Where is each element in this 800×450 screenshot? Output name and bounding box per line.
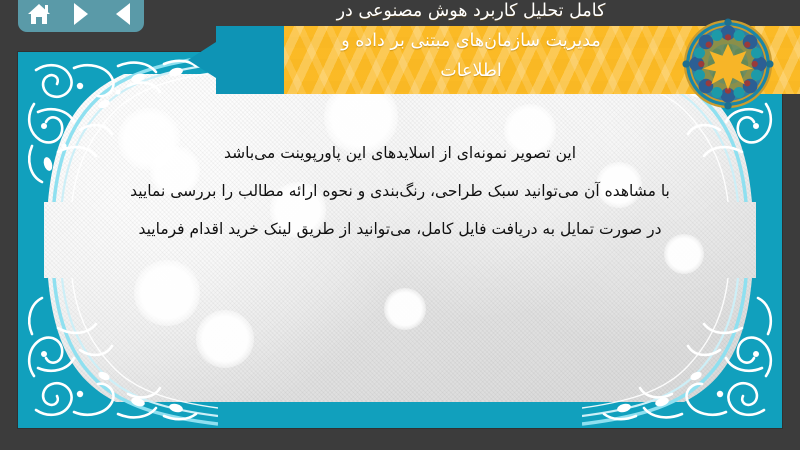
- slide-frame: این تصویر نمونه‌ای از اسلایدهای این پاور…: [18, 52, 782, 428]
- triangle-right-icon: [74, 3, 88, 25]
- bokeh-circle: [384, 288, 426, 330]
- home-button[interactable]: [24, 1, 54, 27]
- triangle-left-icon: [116, 3, 130, 25]
- body-line-3: در صورت تمایل به دریافت فایل کامل، می‌تو…: [58, 210, 742, 248]
- slide-body-text: این تصویر نمونه‌ای از اسلایدهای این پاور…: [58, 134, 742, 248]
- back-button[interactable]: [108, 1, 138, 27]
- forward-button[interactable]: [66, 1, 96, 27]
- persian-medallion-ornament: [682, 18, 774, 110]
- body-line-2: با مشاهده آن می‌توانید سبک طراحی، رنگ‌بن…: [58, 172, 742, 210]
- bokeh-circle: [196, 310, 254, 368]
- navigation-bar: [18, 0, 144, 32]
- page-title: کامل تحلیل کاربرد هوش مصنوعی در مدیریت س…: [276, 0, 666, 86]
- body-line-1: این تصویر نمونه‌ای از اسلایدهای این پاور…: [58, 134, 742, 172]
- slide-viewer-window: کامل تحلیل کاربرد هوش مصنوعی در مدیریت س…: [0, 0, 800, 450]
- home-icon: [28, 4, 50, 24]
- bokeh-circle: [134, 260, 200, 326]
